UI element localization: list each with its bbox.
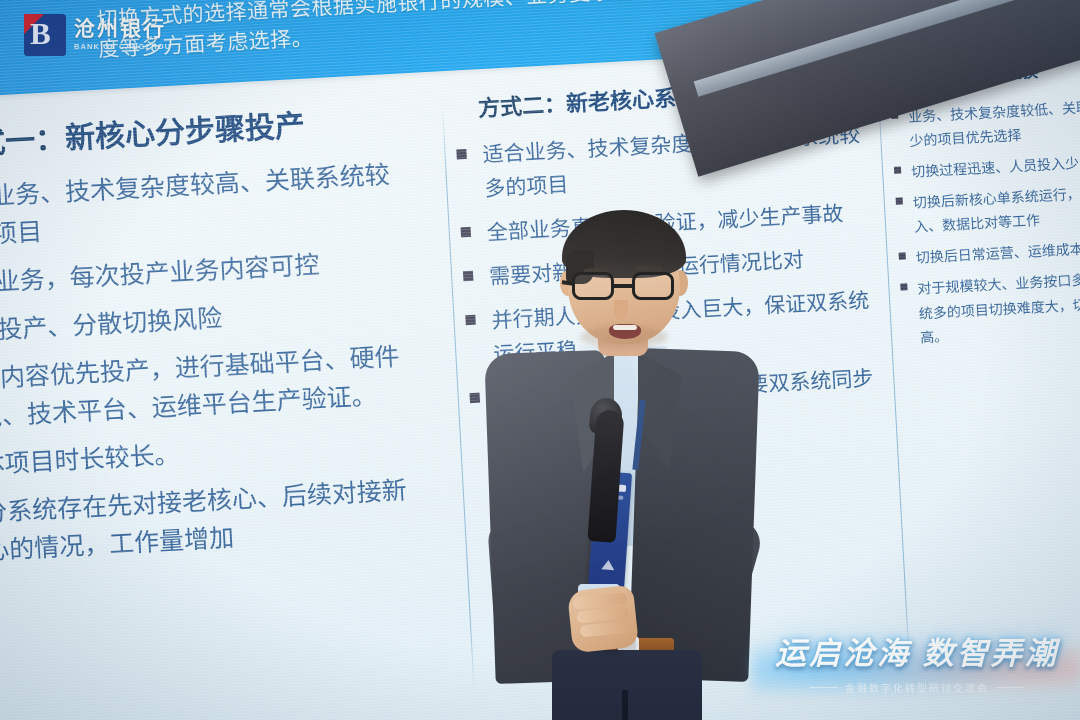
list-item: 切换后日常运营、运维成本低 [898,234,1080,271]
list-item: 切换后新核心单系统运行，无二次投入、数据比对等工作 [895,179,1080,240]
bank-logo: B 沧州银行 BANK OF CANGZHOU [24,12,174,58]
list-item: 切换过程迅速、人员投入少 [894,148,1080,185]
bank-logo-mark-icon: B [24,14,66,56]
subtitle-rule-left [810,687,838,688]
finger [580,620,629,637]
speaker-person [472,196,772,720]
column-method-three: 方式三：一次性切换 业务、技术复杂度较低、关联系统较少的项目优先选择 切换过程迅… [887,34,1080,720]
bank-logo-text: 沧州银行 BANK OF CANGZHOU [74,19,171,51]
logo-glyph: B [30,18,51,49]
list-item: 适合业务、技术复杂度较高、关联系统较多的项目 [0,155,413,258]
bullet-square-icon [894,166,901,173]
event-watermark: 运启沧海 数智弄潮 金融数字化转型研讨交流会 [764,628,1070,712]
column-heading-label: 方式二： [477,92,566,122]
bullet-square-icon [896,198,903,205]
lens-left [572,272,614,300]
bullet-square-icon [456,149,467,160]
list-item-text: 适合业务、技术复杂度较高、关联系统较多的项目 [0,161,390,251]
list-item-text: 切换过程迅速、人员投入少 [911,155,1080,180]
conference-photo: 方式 培创环境的切换方式 主流的切换方式为三种：新老核心系统并行使用、新核心分步… [0,0,1080,720]
speaker-hand [567,585,639,654]
subtitle-rule-right [996,687,1024,688]
bullet-square-icon [461,227,472,238]
speaker-hair [562,210,686,278]
bullet-list: 业务、技术复杂度较低、关联系统较少的项目优先选择 切换过程迅速、人员投入少 切换… [891,93,1080,351]
list-item-text: 拆分业务，每次投产业务内容可控 [0,251,320,299]
column-heading-label: 方式一： [0,123,66,162]
list-item: 部分系统存在先对接老核心、后续对接新核心的情况，工作量增加 [0,471,430,574]
column-method-one: 方式一：新核心分步骤投产 适合业务、技术复杂度较高、关联系统较多的项目 拆分业务… [0,73,443,720]
bullet-square-icon [899,253,906,260]
bank-name-en: BANK OF CANGZHOU [74,43,171,51]
column-heading-value: 新核心分步骤投产 [64,110,305,156]
glasses-bridge [614,284,632,288]
event-title: 运启沧海 数智弄潮 [764,628,1070,673]
list-item-text: 切换后日常运营、运维成本低 [915,240,1080,266]
speaker-mouth [609,324,641,339]
list-item-text: 部分内容优先投产，进行基础平台、硬件环境、技术平台、运维平台生产验证。 [0,343,400,433]
bullet-square-icon [900,284,907,291]
speaker-nose [614,300,628,320]
bank-name-cn: 沧州银行 [74,19,171,40]
list-item-text: 切换后新核心单系统运行，无二次投入、数据比对等工作 [912,183,1080,235]
lens-right [632,272,674,300]
speaker-trousers [552,650,702,720]
list-item: 部分内容优先投产，进行基础平台、硬件环境、技术平台、运维平台生产验证。 [0,337,423,440]
bullet-list: 适合业务、技术复杂度较高、关联系统较多的项目 拆分业务，每次投产业务内容可控 多… [0,155,430,573]
speaker-torso [486,346,758,720]
eyeglasses-icon [572,272,680,302]
list-item-text: 多次投产、分散切换风险 [0,304,223,347]
list-item-text: 整体项目时长较长。 [0,441,180,481]
event-subtitle-row: 金融数字化转型研讨交流会 [764,680,1070,695]
list-item-text: 对于规模较大、业务按口多、关联系统多的项目切换难度大，切换风险高。 [917,269,1080,345]
list-item-text: 部分系统存在先对接老核心、后续对接新核心的情况，工作量增加 [0,477,407,567]
list-item: 对于规模较大、业务按口多、关联系统多的项目切换难度大，切换风险高。 [900,265,1080,350]
column-heading: 方式一：新核心分步骤投产 [0,95,408,164]
event-subtitle: 金融数字化转型研讨交流会 [845,680,989,695]
microphone-flag-logo-icon [601,560,615,574]
